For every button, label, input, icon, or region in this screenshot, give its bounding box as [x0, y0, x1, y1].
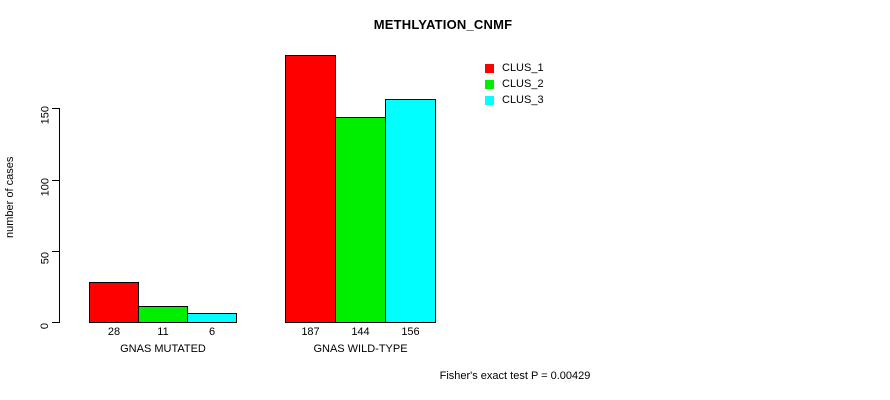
bar-value-g1-clus1: 28 [89, 326, 139, 338]
bar-value-g2-clus2: 144 [335, 326, 386, 338]
legend: CLUS_1 CLUS_2 CLUS_3 [484, 60, 544, 108]
bar-value-g1-clus3: 6 [187, 326, 237, 338]
bar-g2-clus1[interactable] [285, 55, 336, 323]
bars-layer: 28 11 6 GNAS MUTATED 187 144 156 GNAS WI… [0, 0, 890, 400]
legend-swatch-icon-clus-3 [484, 95, 495, 106]
bar-g2-clus2[interactable] [335, 117, 386, 323]
legend-item-clus-1[interactable]: CLUS_1 [484, 60, 544, 76]
legend-item-clus-2[interactable]: CLUS_2 [484, 76, 544, 92]
legend-swatch-icon-clus-1 [484, 63, 495, 74]
legend-swatch-icon-clus-2 [484, 79, 495, 90]
bar-g1-clus3[interactable] [187, 313, 237, 323]
bar-g1-clus2[interactable] [138, 306, 188, 323]
legend-label-clus-1: CLUS_1 [502, 63, 544, 74]
bar-g1-clus1[interactable] [89, 282, 139, 323]
barplot-figure: METHLYATION_CNMF number of cases 0 50 10… [0, 0, 890, 400]
legend-label-clus-2: CLUS_2 [502, 79, 544, 90]
legend-item-clus-3[interactable]: CLUS_3 [484, 92, 544, 108]
bar-value-g1-clus2: 11 [138, 326, 188, 338]
bar-value-g2-clus1: 187 [285, 326, 336, 338]
legend-label-clus-3: CLUS_3 [502, 95, 544, 106]
group-label-gnas-wild-type: GNAS WILD-TYPE [285, 343, 436, 355]
group-label-gnas-mutated: GNAS MUTATED [88, 343, 238, 355]
bar-value-g2-clus3: 156 [385, 326, 436, 338]
statistical-annotation: Fisher's exact test P = 0.00429 [70, 370, 890, 382]
bar-g2-clus3[interactable] [385, 99, 436, 323]
